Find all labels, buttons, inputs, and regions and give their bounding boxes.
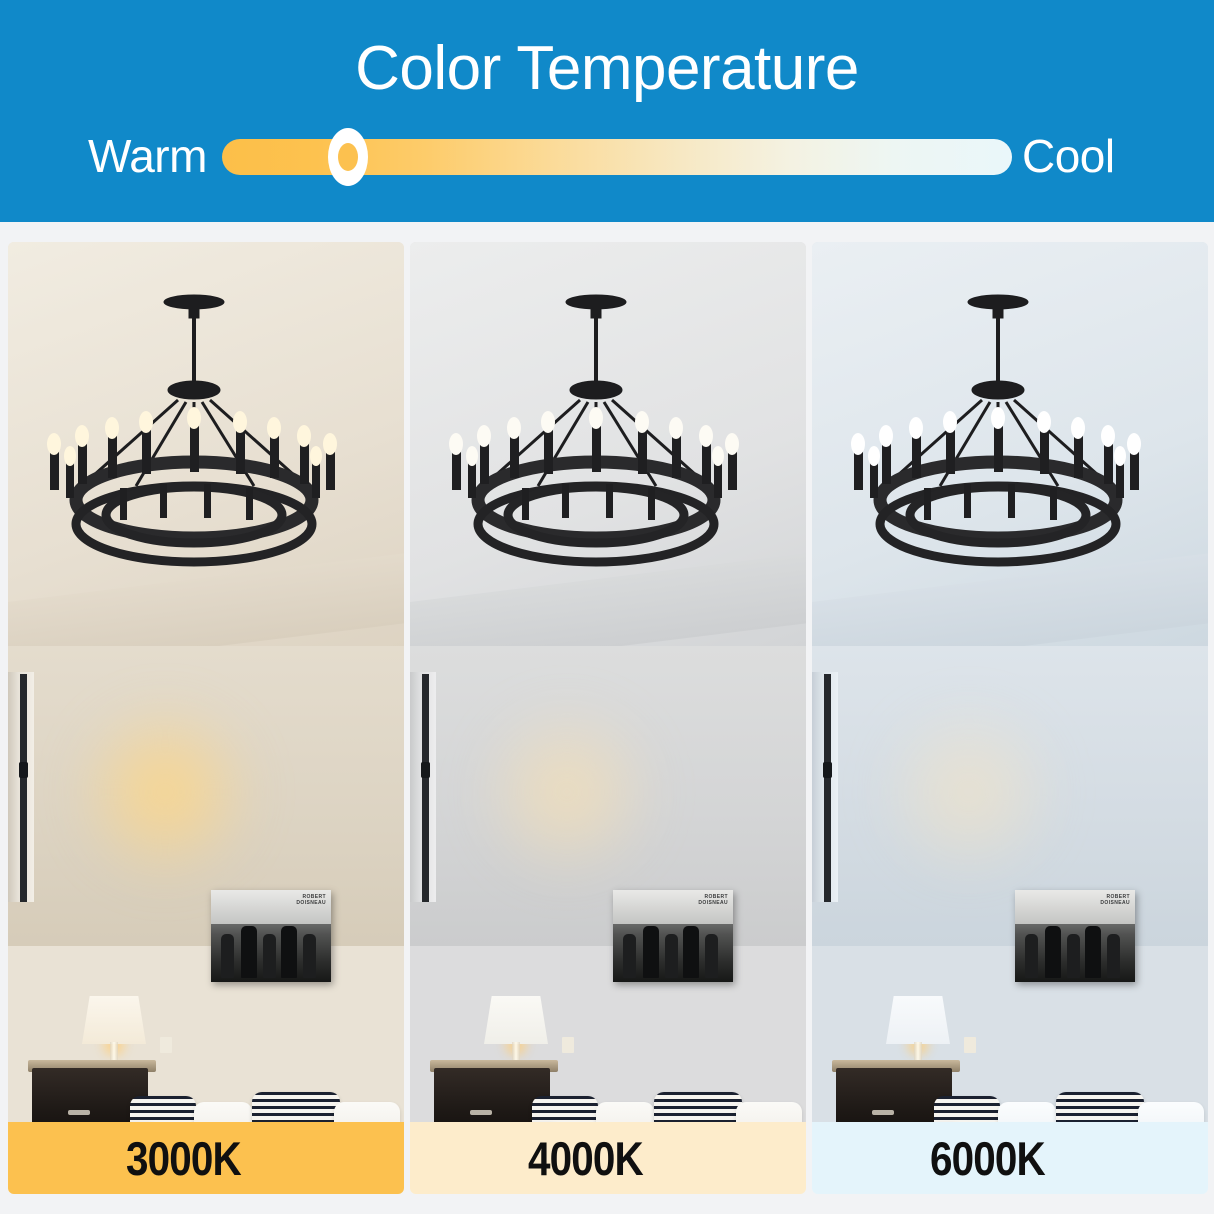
comparison-panels: ROBERT DOISNEAU — [0, 222, 1214, 1214]
panel-4000k: ROBERT DOISNEAU — [410, 242, 806, 1194]
page-title: Color Temperature — [0, 34, 1214, 104]
slider-cool-label: Cool — [1022, 124, 1115, 188]
wall-outlet-icon — [562, 1037, 574, 1053]
bedroom-scene-warm: ROBERT DOISNEAU — [8, 242, 404, 1122]
slider-warm-label: Warm — [88, 124, 207, 188]
artwork-title: ROBERT DOISNEAU — [698, 894, 728, 906]
header-banner: Color Temperature Warm Cool — [0, 0, 1214, 222]
pillow-group — [812, 1088, 1208, 1122]
artwork-image: ROBERT DOISNEAU — [211, 890, 331, 982]
lamp-wall-glow — [70, 697, 260, 887]
infographic-page: Color Temperature Warm Cool — [0, 0, 1214, 1214]
wall-artwork: ROBERT DOISNEAU — [211, 890, 331, 982]
door-trim — [824, 674, 831, 902]
wall-artwork: ROBERT DOISNEAU — [613, 890, 733, 982]
wall-outlet-icon — [160, 1037, 172, 1053]
chandelier-icon — [812, 272, 1208, 682]
panel-3000k: ROBERT DOISNEAU — [8, 242, 404, 1194]
color-temperature-slider[interactable]: Warm Cool — [0, 124, 1214, 188]
chandelier-icon — [410, 272, 806, 682]
lamp-shade — [886, 996, 950, 1044]
temperature-label: 4000K — [528, 1131, 643, 1186]
label-bar-3000k: 3000K — [8, 1122, 404, 1194]
chandelier-icon — [8, 272, 404, 682]
lamp-wall-glow — [472, 697, 662, 887]
artwork-title: ROBERT DOISNEAU — [1100, 894, 1130, 906]
bedroom-scene-cool: ROBERT DOISNEAU — [812, 242, 1208, 1122]
lamp-shade — [82, 996, 146, 1044]
lamp-wall-glow — [874, 697, 1064, 887]
wall-artwork: ROBERT DOISNEAU — [1015, 890, 1135, 982]
door-hardware-icon — [19, 762, 28, 778]
pillow-group — [410, 1088, 806, 1122]
door-trim — [422, 674, 429, 902]
door-hardware-icon — [823, 762, 832, 778]
temperature-label: 6000K — [930, 1131, 1045, 1186]
slider-handle-core — [338, 143, 358, 171]
temperature-label: 3000K — [126, 1131, 241, 1186]
artwork-image: ROBERT DOISNEAU — [613, 890, 733, 982]
panel-6000k: ROBERT DOISNEAU — [812, 242, 1208, 1194]
door-trim — [20, 674, 27, 902]
lamp-shade — [484, 996, 548, 1044]
artwork-image: ROBERT DOISNEAU — [1015, 890, 1135, 982]
pillow-group — [8, 1088, 404, 1122]
wall-outlet-icon — [964, 1037, 976, 1053]
door-hardware-icon — [421, 762, 430, 778]
slider-handle[interactable] — [328, 128, 368, 186]
label-bar-4000k: 4000K — [410, 1122, 806, 1194]
bedroom-scene-neutral: ROBERT DOISNEAU — [410, 242, 806, 1122]
label-bar-6000k: 6000K — [812, 1122, 1208, 1194]
artwork-title: ROBERT DOISNEAU — [296, 894, 326, 906]
